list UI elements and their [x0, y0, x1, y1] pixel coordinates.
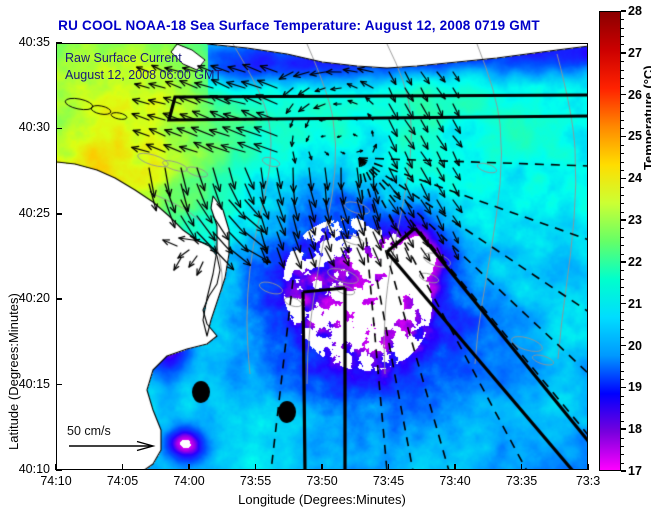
- colorbar-minor-tick: [621, 86, 624, 87]
- sst-map-figure: RU COOL NOAA-18 Sea Surface Temperature:…: [0, 0, 651, 518]
- colorbar-tick-label: 17: [628, 464, 642, 478]
- colorbar-minor-tick: [621, 254, 624, 255]
- x-axis-tick: [321, 464, 323, 470]
- x-axis-tick-label: 73:45: [373, 474, 404, 488]
- colorbar-minor-tick: [621, 212, 624, 213]
- sst-raster: [57, 44, 588, 470]
- x-axis-tick-label: 73:35: [506, 474, 537, 488]
- colorbar-minor-tick: [621, 287, 624, 288]
- x-axis-tick-label: 73:3: [576, 474, 600, 488]
- colorbar-tick: [621, 10, 626, 12]
- colorbar-minor-tick: [621, 371, 624, 372]
- y-axis-tick: [56, 128, 62, 130]
- colorbar-minor-tick: [621, 337, 624, 338]
- x-axis-tick: [188, 464, 190, 470]
- colorbar-minor-tick: [621, 412, 624, 413]
- colorbar-tick: [621, 52, 626, 54]
- scale-arrow-icon: [67, 439, 159, 451]
- colorbar-minor-tick: [621, 61, 624, 62]
- y-axis-tick-label: 40:25: [4, 206, 50, 220]
- colorbar-tick-label: 19: [628, 380, 642, 394]
- colorbar-minor-tick: [621, 438, 624, 439]
- colorbar-minor-tick: [621, 295, 624, 296]
- colorbar-minor-tick: [621, 362, 624, 363]
- colorbar-minor-tick: [621, 270, 624, 271]
- colorbar-minor-tick: [621, 145, 624, 146]
- colorbar-minor-tick: [621, 329, 624, 330]
- colorbar-tick: [621, 136, 626, 138]
- y-axis-tick-label: 40:35: [4, 35, 50, 49]
- colorbar-tick-label: 27: [628, 46, 642, 60]
- colorbar-tick-label: 18: [628, 422, 642, 436]
- colorbar-tick-label: 20: [628, 339, 642, 353]
- x-axis-tick-label: 73:50: [306, 474, 337, 488]
- colorbar-minor-tick: [621, 28, 624, 29]
- colorbar-minor-tick: [621, 245, 624, 246]
- colorbar-minor-tick: [621, 421, 624, 422]
- scale-legend-label: 50 cm/s: [67, 424, 177, 438]
- colorbar-minor-tick: [621, 404, 624, 405]
- x-axis-tick: [454, 464, 456, 470]
- map-plot-area[interactable]: Raw Surface Current August 12, 2008 06:0…: [56, 43, 588, 470]
- x-axis-tick-label: 73:55: [240, 474, 271, 488]
- colorbar-minor-tick: [621, 446, 624, 447]
- colorbar-minor-tick: [621, 312, 624, 313]
- colorbar-tick-label: 23: [628, 213, 642, 227]
- colorbar-minor-tick: [621, 36, 624, 37]
- colorbar-tick: [621, 387, 626, 389]
- colorbar-minor-tick: [621, 279, 624, 280]
- colorbar-minor-tick: [621, 170, 624, 171]
- colorbar-minor-tick: [621, 111, 624, 112]
- colorbar-tick-label: 22: [628, 255, 642, 269]
- x-axis-tick: [521, 464, 523, 470]
- x-axis-tick-label: 73:40: [439, 474, 470, 488]
- colorbar-minor-tick: [621, 120, 624, 121]
- colorbar-minor-tick: [621, 19, 624, 20]
- colorbar-title: Temperature (°C): [641, 65, 651, 170]
- x-axis-tick: [255, 464, 257, 470]
- x-axis-label: Longitude (Degrees:Minutes): [56, 492, 588, 507]
- y-axis-tick: [56, 469, 62, 471]
- colorbar-minor-tick: [621, 70, 624, 71]
- colorbar-tick: [621, 303, 626, 305]
- y-axis-tick: [56, 298, 62, 300]
- colorbar-minor-tick: [621, 203, 624, 204]
- x-axis-tick: [122, 464, 124, 470]
- colorbar-minor-tick: [621, 128, 624, 129]
- colorbar-minor-tick: [621, 228, 624, 229]
- colorbar-minor-tick: [621, 195, 624, 196]
- colorbar-minor-tick: [621, 153, 624, 154]
- colorbar-gradient: [600, 12, 620, 470]
- colorbar-tick: [621, 261, 626, 263]
- colorbar: [599, 11, 621, 471]
- colorbar-minor-tick: [621, 44, 624, 45]
- colorbar-minor-tick: [621, 396, 624, 397]
- y-axis-tick: [56, 384, 62, 386]
- x-axis-tick-label: 74:10: [40, 474, 71, 488]
- y-axis-tick-label: 40:30: [4, 120, 50, 134]
- x-axis-tick: [55, 464, 57, 470]
- velocity-scale-legend: 50 cm/s: [67, 424, 177, 451]
- colorbar-minor-tick: [621, 454, 624, 455]
- colorbar-tick: [621, 94, 626, 96]
- x-axis-tick-label: 74:00: [173, 474, 204, 488]
- y-axis-tick: [56, 213, 62, 215]
- colorbar-minor-tick: [621, 162, 624, 163]
- colorbar-tick-label: 26: [628, 88, 642, 102]
- colorbar-minor-tick: [621, 320, 624, 321]
- x-axis-tick-label: 74:05: [107, 474, 138, 488]
- colorbar-tick-label: 25: [628, 129, 642, 143]
- colorbar-minor-tick: [621, 379, 624, 380]
- colorbar-tick-label: 24: [628, 171, 642, 185]
- colorbar-tick-label: 21: [628, 297, 642, 311]
- colorbar-minor-tick: [621, 103, 624, 104]
- colorbar-minor-tick: [621, 354, 624, 355]
- colorbar-tick: [621, 178, 626, 180]
- colorbar-tick: [621, 470, 626, 472]
- colorbar-minor-tick: [621, 463, 624, 464]
- y-axis-tick: [56, 42, 62, 44]
- colorbar-tick: [621, 428, 626, 430]
- x-axis-tick: [587, 464, 589, 470]
- colorbar-minor-tick: [621, 187, 624, 188]
- colorbar-minor-tick: [621, 78, 624, 79]
- colorbar-tick-label: 28: [628, 4, 642, 18]
- y-axis-label: Latitude (Degrees:Minutes): [6, 293, 21, 450]
- colorbar-minor-tick: [621, 237, 624, 238]
- x-axis-tick: [388, 464, 390, 470]
- colorbar-tick: [621, 345, 626, 347]
- colorbar-tick: [621, 219, 626, 221]
- figure-title: RU COOL NOAA-18 Sea Surface Temperature:…: [0, 18, 598, 33]
